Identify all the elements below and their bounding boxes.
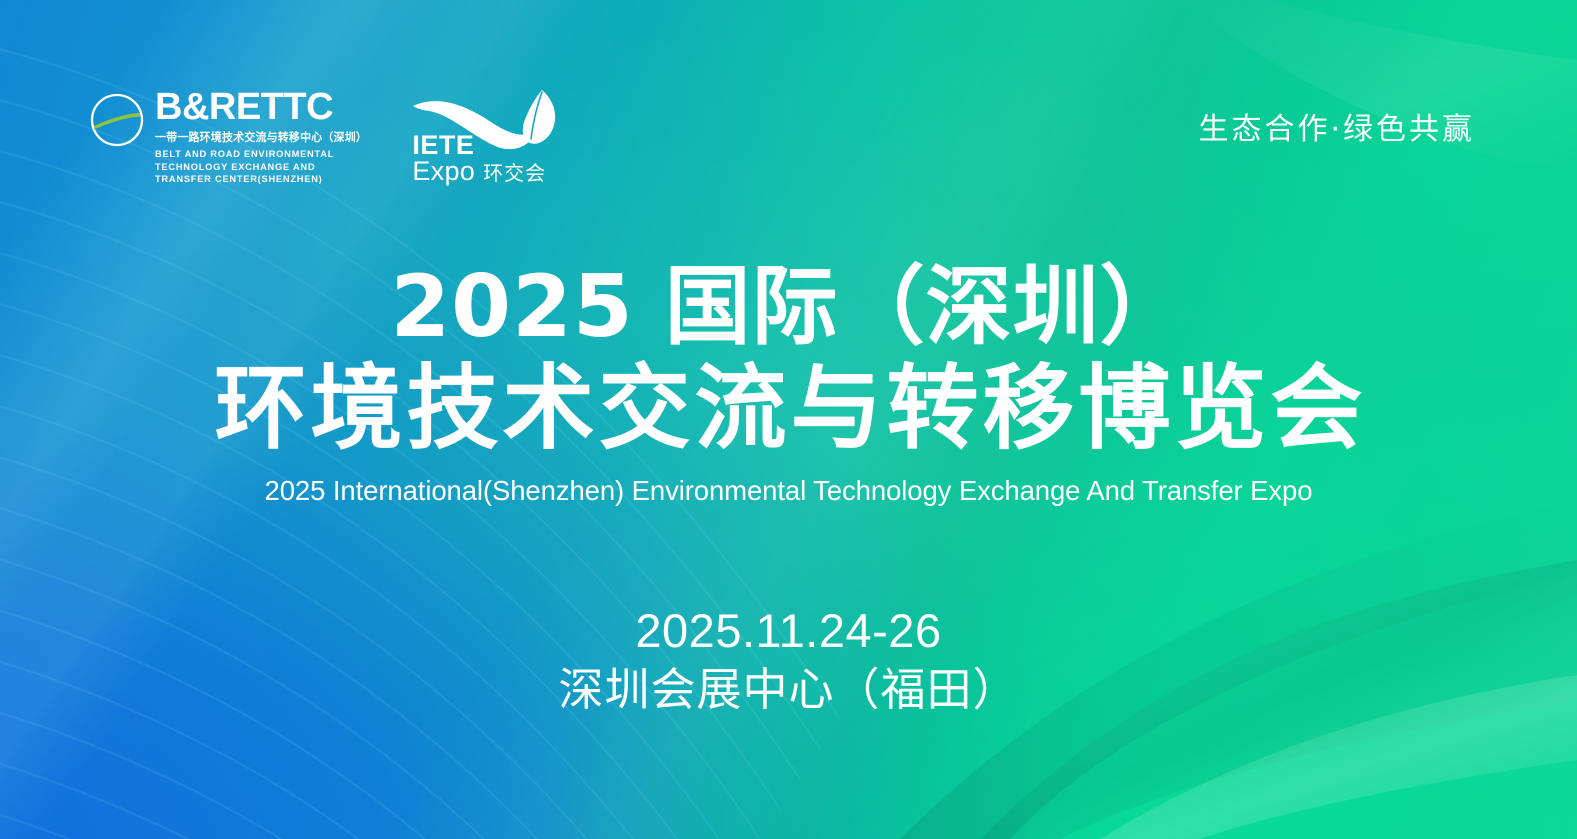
iete-wordmark: IETE: [412, 132, 474, 159]
title-block: 2025 国际（深圳） 环境技术交流与转移博览会 2025 Internatio…: [0, 262, 1577, 507]
logo-row: B&RETTC 一带一路环境技术交流与转移中心（深圳） BELT AND ROA…: [88, 88, 569, 196]
iete-expo-logo: IETE Expo 环交会: [409, 88, 569, 196]
brettc-name-cn: 一带一路环境技术交流与转移中心（深圳）: [155, 129, 367, 145]
expo-banner: B&RETTC 一带一路环境技术交流与转移中心（深圳） BELT AND ROA…: [0, 0, 1577, 839]
brettc-logo: B&RETTC 一带一路环境技术交流与转移中心（深圳） BELT AND ROA…: [88, 88, 371, 185]
iete-sub-cn: 环交会: [483, 163, 546, 183]
title-line-1: 2025 国际（深圳）: [0, 262, 1577, 353]
banner-content: B&RETTC 一带一路环境技术交流与转移中心（深圳） BELT AND ROA…: [0, 0, 1577, 839]
iete-sub-row: Expo 环交会: [412, 158, 546, 185]
brettc-text-block: B&RETTC 一带一路环境技术交流与转移中心（深圳） BELT AND ROA…: [155, 88, 371, 185]
event-meta: 2025.11.24-26 深圳会展中心（福田）: [0, 604, 1577, 716]
event-venue: 深圳会展中心（福田）: [0, 663, 1577, 716]
title-line-2: 环境技术交流与转移博览会: [0, 359, 1577, 458]
title-english: 2025 International(Shenzhen) Environment…: [0, 475, 1577, 507]
globe-leaf-icon: [88, 91, 146, 149]
iete-sub-en: Expo: [412, 158, 475, 185]
event-date: 2025.11.24-26: [0, 604, 1577, 659]
brettc-wordmark: B&RETTC: [155, 89, 371, 125]
tagline: 生态合作·绿色共赢: [1198, 104, 1475, 148]
brettc-name-en: BELT AND ROAD ENVIRONMENTAL TECHNOLOGY E…: [155, 148, 365, 185]
